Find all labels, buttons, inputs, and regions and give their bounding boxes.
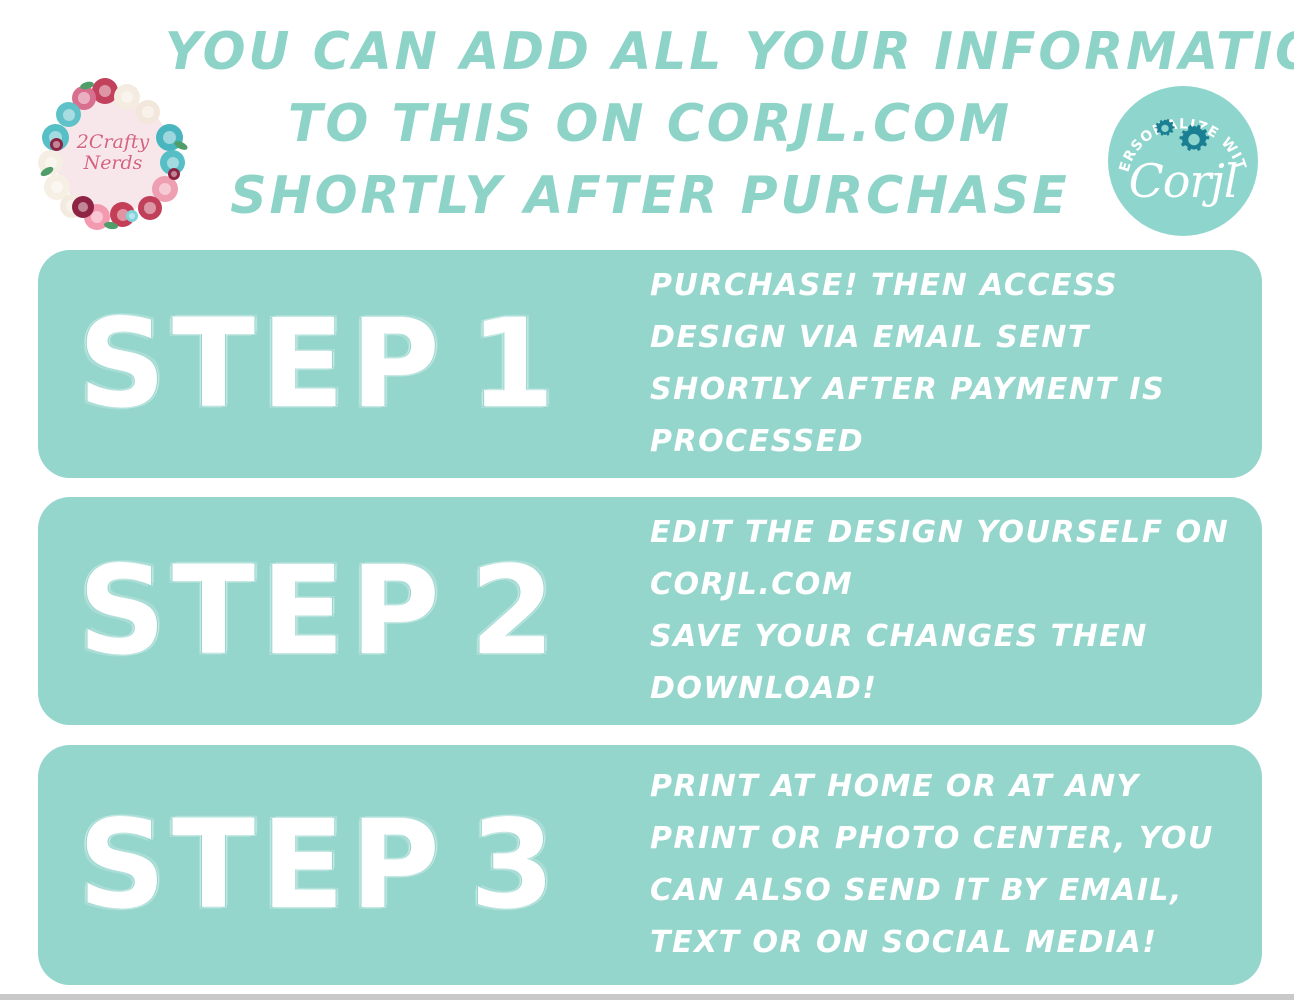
corjl-badge: PERSONALIZE WITH Corjl <box>1108 86 1258 236</box>
step-3-label: STEP3 <box>78 803 618 927</box>
step-3-desc-line-3: CAN ALSO SEND IT BY EMAIL, <box>650 865 1246 917</box>
header: YOU CAN ADD ALL YOUR INFORMATION TO THIS… <box>0 0 1294 240</box>
page-title: YOU CAN ADD ALL YOUR INFORMATION TO THIS… <box>150 16 1150 232</box>
gear-icon-small <box>1152 118 1178 144</box>
step-2-description: EDIT THE DESIGN YOURSELF ON CORJL.COM SA… <box>650 507 1246 715</box>
step-2-desc-line-3: SAVE YOUR CHANGES THEN <box>650 611 1246 663</box>
step-1-label: STEP1 <box>78 302 618 426</box>
page-title-line-3: SHORTLY AFTER PURCHASE <box>165 160 1135 232</box>
step-card-3: STEP3 PRINT AT HOME OR AT ANY PRINT OR P… <box>38 745 1262 985</box>
step-2-desc-line-1: EDIT THE DESIGN YOURSELF ON <box>650 507 1246 559</box>
instruction-graphic: YOU CAN ADD ALL YOUR INFORMATION TO THIS… <box>0 0 1294 1000</box>
step-1-desc-line-2: DESIGN VIA EMAIL SENT <box>650 312 1246 364</box>
step-1-desc-line-4: PROCESSED <box>650 416 1246 468</box>
step-2-desc-line-2: CORJL.COM <box>650 559 1246 611</box>
step-1-label-word: STEP <box>78 293 446 435</box>
brand-name: 2Crafty Nerds <box>34 132 192 174</box>
step-3-desc-line-4: TEXT OR ON SOCIAL MEDIA! <box>650 917 1246 969</box>
step-3-label-number: 3 <box>470 794 561 936</box>
step-2-label: STEP2 <box>78 549 618 673</box>
step-card-1: STEP1 PURCHASE! THEN ACCESS DESIGN VIA E… <box>38 250 1262 478</box>
step-2-label-word: STEP <box>78 540 446 682</box>
step-3-desc-line-1: PRINT AT HOME OR AT ANY <box>650 761 1246 813</box>
brand-name-line-1: 2Crafty <box>34 132 192 153</box>
step-1-description: PURCHASE! THEN ACCESS DESIGN VIA EMAIL S… <box>650 260 1246 468</box>
page-title-line-2: TO THIS ON CORJL.COM <box>165 88 1135 160</box>
step-2-desc-line-4: DOWNLOAD! <box>650 663 1246 715</box>
brand-logo: 2Crafty Nerds <box>34 76 192 234</box>
step-3-desc-line-2: PRINT OR PHOTO CENTER, YOU <box>650 813 1246 865</box>
step-3-label-word: STEP <box>78 794 446 936</box>
step-2-label-number: 2 <box>470 540 561 682</box>
step-1-label-number: 1 <box>470 293 561 435</box>
step-1-desc-line-3: SHORTLY AFTER PAYMENT IS <box>650 364 1246 416</box>
page-title-line-1: YOU CAN ADD ALL YOUR INFORMATION <box>165 16 1135 88</box>
corjl-wordmark: Corjl <box>1108 158 1258 204</box>
bottom-rule <box>0 994 1294 1000</box>
brand-name-line-2: Nerds <box>34 153 192 174</box>
step-3-description: PRINT AT HOME OR AT ANY PRINT OR PHOTO C… <box>650 761 1246 969</box>
step-1-desc-line-1: PURCHASE! THEN ACCESS <box>650 260 1246 312</box>
step-card-2: STEP2 EDIT THE DESIGN YOURSELF ON CORJL.… <box>38 497 1262 725</box>
